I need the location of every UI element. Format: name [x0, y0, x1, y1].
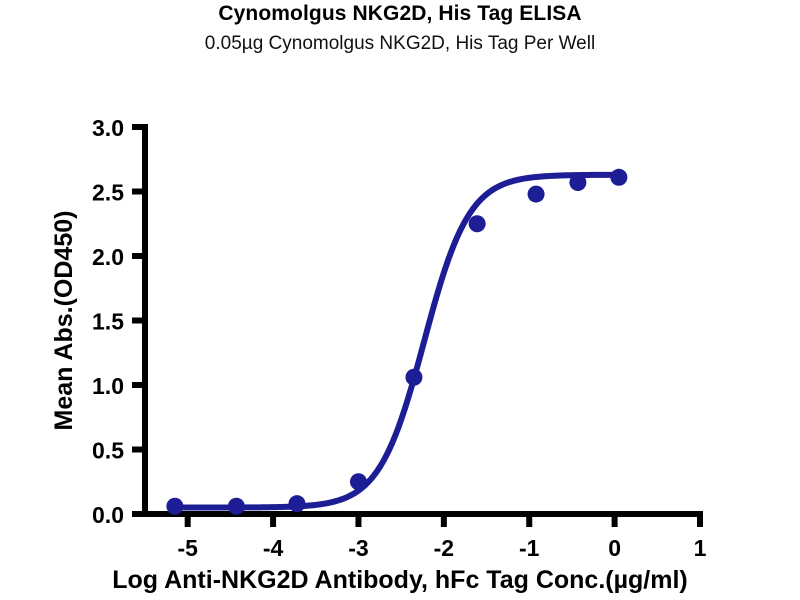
- y-tick-label: 1.0: [92, 373, 124, 399]
- data-point: [350, 473, 367, 490]
- y-tick-label: 1.5: [92, 309, 124, 335]
- plot-area: 0.00.51.01.52.02.53.0 -5-4-3-2-101 Mean …: [0, 0, 800, 600]
- data-point: [610, 169, 627, 186]
- data-point: [405, 369, 422, 386]
- data-point: [528, 186, 545, 203]
- y-tick-label: 0.0: [92, 502, 124, 528]
- x-tick-label-group: -5-4-3-2-101: [177, 535, 706, 561]
- y-tick-label-group: 0.00.51.01.52.02.53.0: [92, 115, 124, 528]
- x-tick-label: -2: [434, 535, 454, 561]
- y-axis-label: Mean Abs.(OD450): [50, 211, 78, 431]
- data-point: [228, 498, 245, 515]
- x-tick-label: 0: [608, 535, 621, 561]
- chart-figure: Cynomolgus NKG2D, His Tag ELISA 0.05µg C…: [0, 0, 800, 600]
- data-point: [166, 498, 183, 515]
- tick-mark-group: [132, 127, 700, 527]
- x-tick-label: 1: [694, 535, 707, 561]
- y-tick-label: 3.0: [92, 115, 124, 141]
- y-tick-label: 2.5: [92, 180, 124, 206]
- data-point: [569, 174, 586, 191]
- data-point: [288, 495, 305, 512]
- x-tick-label: -4: [263, 535, 284, 561]
- x-tick-label: -5: [177, 535, 198, 561]
- data-point-group: [166, 169, 627, 515]
- y-tick-label: 2.0: [92, 244, 124, 270]
- x-axis-label: Log Anti-NKG2D Antibody, hFc Tag Conc.(µ…: [112, 566, 687, 594]
- fit-curve: [175, 175, 619, 508]
- data-point: [469, 215, 486, 232]
- y-tick-label: 0.5: [92, 438, 124, 464]
- x-tick-label: -1: [519, 535, 540, 561]
- x-tick-label: -3: [348, 535, 368, 561]
